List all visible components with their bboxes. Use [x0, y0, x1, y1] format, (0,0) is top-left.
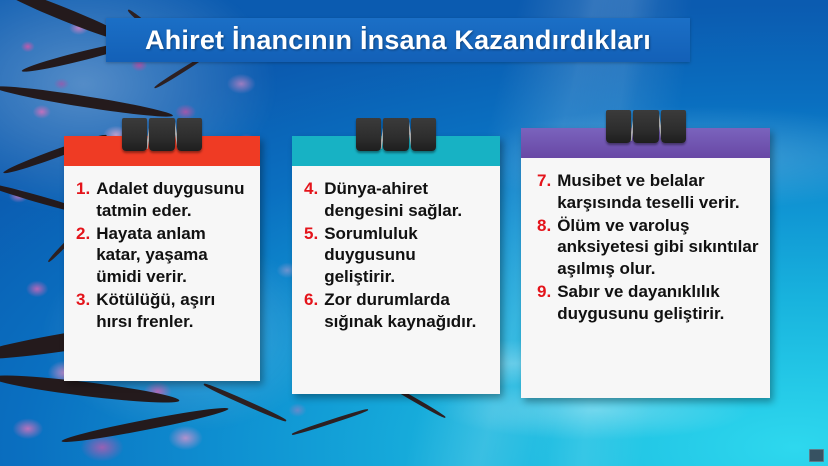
clip-jaw: [411, 118, 436, 151]
item-text: Ölüm ve varoluş anksiyetesi gibi sıkıntı…: [557, 215, 762, 280]
clip-jaw: [356, 118, 381, 151]
list-item: 9.Sabır ve dayanıklılık duygusunu gelişt…: [537, 281, 762, 325]
clip-jaw: [177, 118, 202, 151]
item-number: 8.: [537, 215, 551, 237]
item-number: 4.: [304, 178, 318, 200]
item-number: 9.: [537, 281, 551, 303]
list-item: 8.Ölüm ve varoluş anksiyetesi gibi sıkın…: [537, 215, 762, 280]
item-text: Sabır ve dayanıklılık duygusunu geliştir…: [557, 281, 762, 325]
list-item: 2.Hayata anlam katar, yaşama ümidi verir…: [76, 223, 250, 288]
card-3: 7.Musibet ve belalar karşısında teselli …: [521, 128, 770, 398]
card-2-list: 4.Dünya-ahiret dengesini sağlar. 5.Sorum…: [304, 178, 490, 332]
list-item: 1.Adalet duygusunu tatmin eder.: [76, 178, 250, 222]
card-2-body: 4.Dünya-ahiret dengesini sağlar. 5.Sorum…: [292, 166, 500, 394]
card-3-body: 7.Musibet ve belalar karşısında teselli …: [521, 158, 770, 398]
item-text: Dünya-ahiret dengesini sağlar.: [324, 178, 490, 222]
list-item: 6.Zor durumlarda sığınak kaynağıdır.: [304, 289, 490, 333]
clip-jaw: [633, 110, 659, 143]
item-text: Adalet duygusunu tatmin eder.: [96, 178, 250, 222]
slide-canvas: Ahiret İnancının İnsana Kazandırdıkları …: [0, 0, 828, 466]
binder-clip-icon: [606, 110, 686, 148]
item-number: 5.: [304, 223, 318, 245]
item-text: Kötülüğü, aşırı hırsı frenler.: [96, 289, 250, 333]
clip-jaw: [606, 110, 631, 143]
item-number: 7.: [537, 170, 551, 192]
item-number: 1.: [76, 178, 90, 200]
clip-jaw: [383, 118, 409, 151]
clip-jaw: [661, 110, 686, 143]
card-2: 4.Dünya-ahiret dengesini sağlar. 5.Sorum…: [292, 136, 500, 394]
card-1-body: 1.Adalet duygusunu tatmin eder. 2.Hayata…: [64, 166, 260, 381]
item-number: 2.: [76, 223, 90, 245]
list-item: 3.Kötülüğü, aşırı hırsı frenler.: [76, 289, 250, 333]
card-1: 1.Adalet duygusunu tatmin eder. 2.Hayata…: [64, 136, 260, 381]
page-title: Ahiret İnancının İnsana Kazandırdıkları: [145, 25, 651, 56]
list-item: 5.Sorumluluk duygusunu geliştirir.: [304, 223, 490, 288]
list-item: 4.Dünya-ahiret dengesini sağlar.: [304, 178, 490, 222]
binder-clip-icon: [356, 118, 436, 156]
clip-jaw: [122, 118, 147, 151]
binder-clip-icon: [122, 118, 202, 156]
slide-title-banner: Ahiret İnancının İnsana Kazandırdıkları: [106, 18, 690, 62]
list-item: 7.Musibet ve belalar karşısında teselli …: [537, 170, 762, 214]
item-number: 3.: [76, 289, 90, 311]
card-1-list: 1.Adalet duygusunu tatmin eder. 2.Hayata…: [76, 178, 250, 332]
corner-watermark-icon: [809, 449, 824, 462]
item-text: Zor durumlarda sığınak kaynağıdır.: [324, 289, 490, 333]
item-number: 6.: [304, 289, 318, 311]
item-text: Hayata anlam katar, yaşama ümidi verir.: [96, 223, 250, 288]
card-3-list: 7.Musibet ve belalar karşısında teselli …: [537, 170, 762, 324]
clip-jaw: [149, 118, 175, 151]
item-text: Musibet ve belalar karşısında teselli ve…: [557, 170, 762, 214]
item-text: Sorumluluk duygusunu geliştirir.: [324, 223, 490, 288]
